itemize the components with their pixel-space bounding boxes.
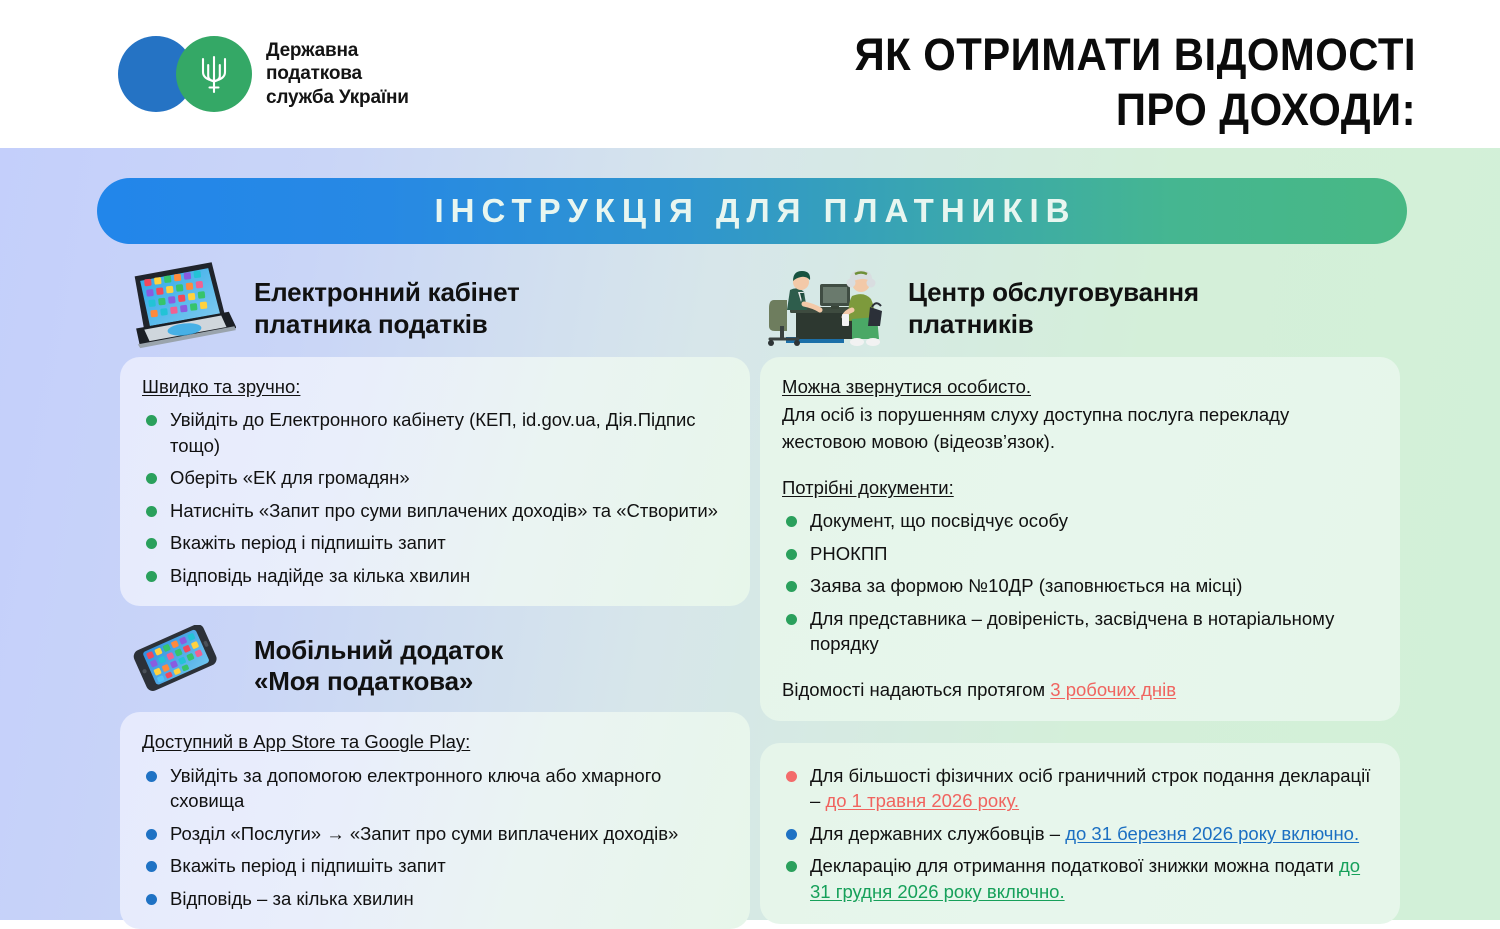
section-heading-mobile-app: Мобільний додаток «Моя податкова» bbox=[254, 635, 503, 698]
organization-name: Державна податкова служба України bbox=[266, 39, 409, 110]
instruction-banner: ІНСТРУКЦІЯ ДЛЯ ПЛАТНИКІВ bbox=[97, 178, 1407, 244]
section-header-mobile-app: Мобільний додаток «Моя податкова» bbox=[120, 620, 750, 712]
list-item: Відповідь – за кілька хвилин bbox=[142, 886, 728, 912]
trident-icon bbox=[197, 52, 231, 96]
section-heading-electronic-cabinet: Електронний кабінет платника податків bbox=[254, 277, 520, 340]
service-center-footer-note: Відомості надаються протягом 3 робочих д… bbox=[782, 677, 1378, 703]
right-column: Центр обслуговування платників Можна зве… bbox=[760, 260, 1400, 924]
card-lead-electronic-cabinet: Швидко та зручно: bbox=[142, 374, 728, 400]
card-service-center: Можна звернутися особисто. Для осіб із п… bbox=[760, 357, 1400, 721]
footer-note-prefix: Відомості надаються протягом bbox=[782, 679, 1050, 700]
card-electronic-cabinet: Швидко та зручно: Увійдіть до Електронно… bbox=[120, 357, 750, 606]
page-header: Державна податкова служба України ЯК ОТР… bbox=[0, 0, 1500, 148]
left-column: Електронний кабінет платника податків Шв… bbox=[120, 260, 750, 929]
list-item: Розділ «Послуги» → «Запит про суми випла… bbox=[142, 821, 728, 847]
list-item: Відповідь надійде за кілька хвилин bbox=[142, 563, 728, 589]
organization-logo: Державна податкова служба України bbox=[118, 36, 409, 112]
list-item: Документ, що посвідчує особу bbox=[782, 508, 1378, 534]
card-docs-lead: Потрібні документи: bbox=[782, 475, 1378, 501]
content-stage: ІНСТРУКЦІЯ ДЛЯ ПЛАТНИКІВ bbox=[0, 148, 1500, 920]
section-header-electronic-cabinet: Електронний кабінет платника податків bbox=[120, 260, 750, 357]
list-item: Для більшості фізичних осіб граничний ст… bbox=[782, 763, 1378, 814]
laptop-icon bbox=[120, 260, 236, 357]
list-item: Увійдіть за допомогою електронного ключа… bbox=[142, 763, 728, 814]
logo-circles bbox=[118, 36, 252, 112]
list-item: Вкажіть період і підпишіть запит bbox=[142, 853, 728, 879]
list-item: Декларацію для отримання податкової зниж… bbox=[782, 853, 1378, 904]
list-mobile-app: Увійдіть за допомогою електронного ключа… bbox=[142, 763, 728, 912]
list-item: Для державних службовців – до 31 березня… bbox=[782, 821, 1378, 847]
deadline-highlight: до 31 березня 2026 року включно. bbox=[1065, 823, 1359, 844]
footer-note-highlight: 3 робочих днів bbox=[1050, 679, 1176, 700]
list-item: РНОКПП bbox=[782, 541, 1378, 567]
deadline-prefix: Декларацію для отримання податкової зниж… bbox=[810, 855, 1339, 876]
list-deadlines: Для більшості фізичних осіб граничний ст… bbox=[782, 763, 1378, 905]
list-item: Оберіть «ЕК для громадян» bbox=[142, 465, 728, 491]
list-item: Вкажіть період і підпишіть запит bbox=[142, 530, 728, 556]
section-header-service-center: Центр обслуговування платників bbox=[760, 260, 1400, 357]
list-item: Увійдіть до Електронного кабінету (КЕП, … bbox=[142, 407, 728, 458]
section-heading-service-center: Центр обслуговування платників bbox=[908, 277, 1199, 340]
card-lead-service-center: Можна звернутися особисто. bbox=[782, 374, 1378, 400]
list-required-documents: Документ, що посвідчує особу РНОКПП Заяв… bbox=[782, 508, 1378, 657]
list-item: Натисніть «Запит про суми виплачених дох… bbox=[142, 498, 728, 524]
card-mobile-app: Доступний в App Store та Google Play: Ув… bbox=[120, 712, 750, 929]
deadline-prefix: Для державних службовців – bbox=[810, 823, 1065, 844]
card-declaration-deadlines: Для більшості фізичних осіб граничний ст… bbox=[760, 743, 1400, 925]
card-intro-service-center: Для осіб із порушенням слуху доступна по… bbox=[782, 402, 1378, 455]
deadline-highlight: до 1 травня 2026 року. bbox=[825, 790, 1019, 811]
list-electronic-cabinet: Увійдіть до Електронного кабінету (КЕП, … bbox=[142, 407, 728, 588]
smartphone-icon bbox=[120, 625, 236, 708]
logo-green-circle-icon bbox=[176, 36, 252, 112]
list-item: Для представника – довіреність, засвідче… bbox=[782, 606, 1378, 657]
service-center-icon bbox=[760, 260, 890, 357]
instruction-banner-label: ІНСТРУКЦІЯ ДЛЯ ПЛАТНИКІВ bbox=[427, 192, 1076, 230]
page-title: ЯК ОТРИМАТИ ВІДОМОСТІ ПРО ДОХОДИ: bbox=[644, 28, 1416, 138]
card-lead-mobile-app: Доступний в App Store та Google Play: bbox=[142, 729, 728, 755]
list-item: Заява за формою №10ДР (заповнюється на м… bbox=[782, 573, 1378, 599]
